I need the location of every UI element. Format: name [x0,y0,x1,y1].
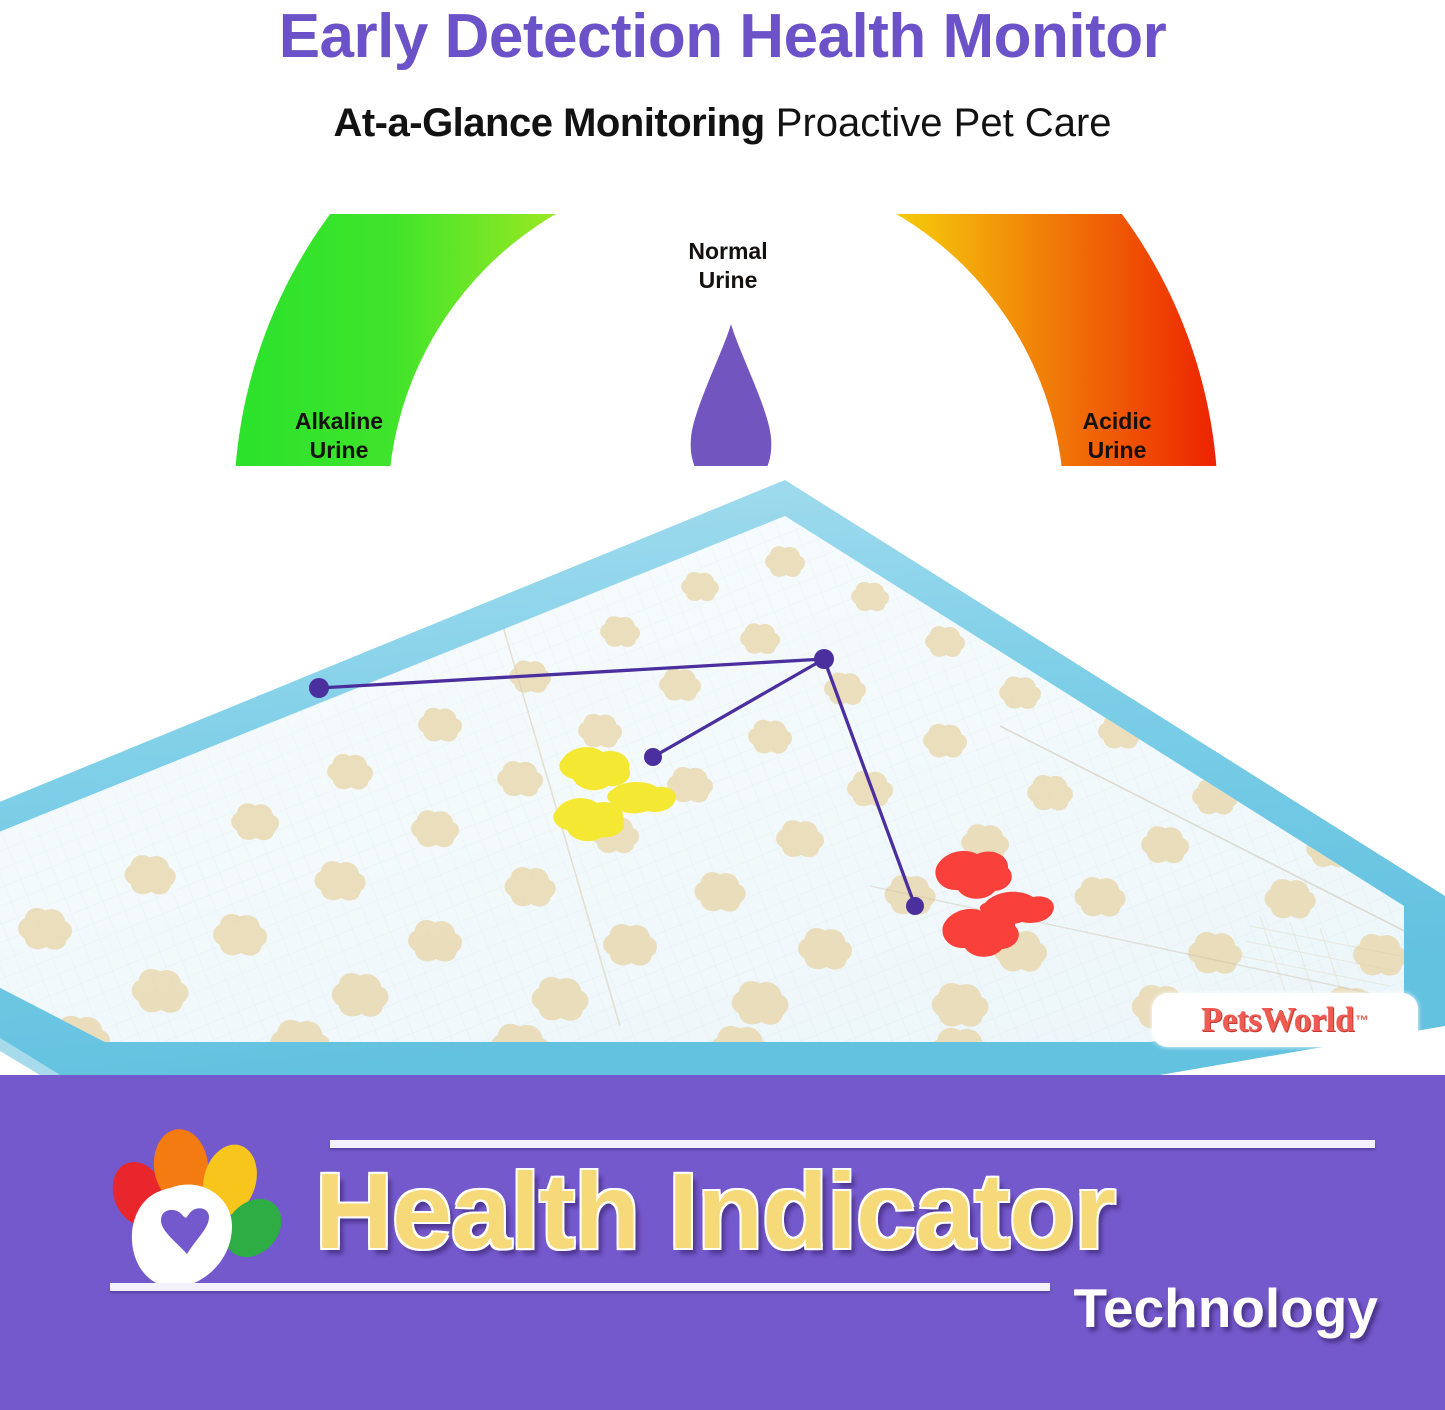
banner-rule-top [330,1140,1375,1148]
gauge-label-alkaline-line2: Urine [254,436,424,465]
subtitle-bold-part: At-a-Glance Monitoring [333,101,764,145]
gauge-label-acidic: Acidic Urine [1032,407,1202,466]
brand-name: PetsWorld [1201,1000,1354,1040]
petsworld-logo: PetsWorld™ [1152,993,1418,1047]
trademark-symbol: ™ [1355,1012,1369,1028]
product-infographic: Early Detection Health Monitor At-a-Glan… [0,0,1445,1410]
subtitle-light-part: Proactive Pet Care [765,101,1112,145]
gauge-label-normal-line1: Normal [638,237,818,266]
callout-dot-acidic [906,897,924,915]
page-subtitle: At-a-Glance Monitoring Proactive Pet Car… [0,98,1445,148]
callout-dot-normal [644,748,662,766]
gauge-label-normal: Normal Urine [638,237,818,296]
gauge-label-acidic-line2: Urine [1032,436,1202,465]
training-pad-photo [0,466,1445,1075]
gauge-label-acidic-line1: Acidic [1032,407,1202,436]
gauge-label-alkaline: Alkaline Urine [254,407,424,466]
callout-hub-dot [814,649,834,669]
banner-subtitle: Technology [0,1276,1378,1340]
banner-title: Health Indicator [315,1157,1415,1265]
callout-dot-alkaline [309,678,329,698]
pad-illustration [0,466,1445,1075]
gauge-label-alkaline-line1: Alkaline [254,407,424,436]
page-title: Early Detection Health Monitor [0,2,1445,71]
gauge-label-normal-line2: Urine [638,266,818,295]
